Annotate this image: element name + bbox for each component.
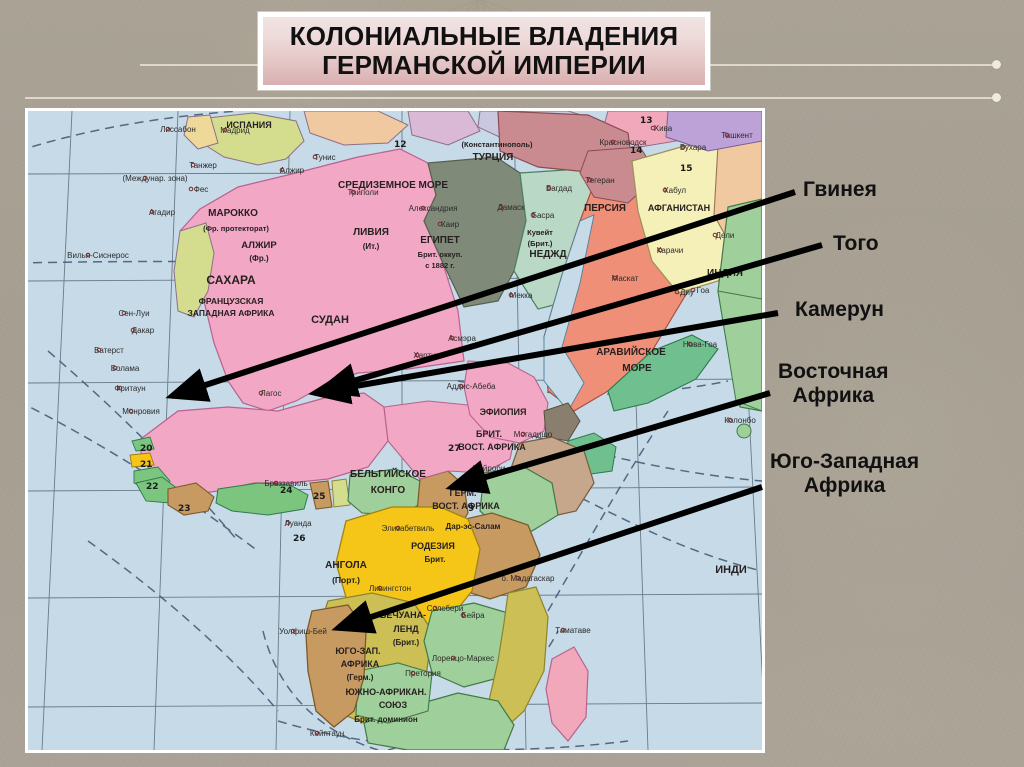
map-city-label: Элизабетвиль	[382, 524, 435, 533]
map-city-label: Танжер	[189, 161, 217, 170]
callout-label-southwest-africa: Юго-Западная Африка	[770, 450, 919, 498]
map-region-label: КОНГО	[371, 485, 406, 496]
map-city-label: Дамаск	[497, 203, 525, 212]
map-region-label: ИНДИЯ	[707, 268, 743, 279]
map-region-label: Брит. доминион	[354, 715, 418, 724]
map-region-label: БРИТ.	[476, 429, 502, 439]
map-city-label: Тунис	[314, 153, 335, 162]
map-city-label: Маскат	[612, 274, 639, 283]
page-title: КОЛОНИАЛЬНЫЕ ВЛАДЕНИЯ ГЕРМАНСКОЙ ИМПЕРИИ	[290, 22, 679, 80]
decor-dot-bottom	[992, 93, 1001, 102]
map-city-label: Аддис-Абеба	[447, 382, 496, 391]
map-region-label: ЮГО-ЗАП.	[335, 646, 380, 656]
map-region-label: (Порт.)	[332, 575, 360, 585]
map-region-label: МОРЕ	[622, 363, 652, 374]
map-city-label: Багдад	[546, 184, 572, 193]
map-city-label: Александрия	[409, 204, 458, 213]
map-region-label: Брит.	[425, 555, 446, 564]
map-canvas: 20 21 22 23 24 25 26 27 9 14 15 12 13 ИС…	[28, 111, 762, 750]
map-region-label: ПЕРСИЯ	[584, 203, 626, 214]
map-region-label: ЕГИПЕТ	[420, 235, 460, 246]
map-region-label: Дар-эс-Салам	[446, 522, 501, 531]
map-city-label: Батерст	[94, 346, 124, 355]
map-region-label: БЕЛЬГИЙСКОЕ	[350, 467, 426, 480]
map-region-label: МАРОККО	[208, 208, 258, 219]
map-city-label: Фес	[194, 185, 209, 194]
svg-text:15: 15	[680, 164, 693, 174]
map-city-label: Лагос	[261, 389, 282, 398]
map-city-label: Монровия	[122, 407, 160, 416]
map-city-label: Ливингстон	[369, 584, 411, 593]
map-city-label: Солсбери	[427, 604, 464, 613]
svg-text:22: 22	[146, 482, 159, 492]
map-city-label: Лоренцо-Маркес	[432, 654, 494, 663]
map-city-label: Луанда	[284, 519, 312, 528]
map-region-label: НЕДЖД	[529, 249, 566, 260]
map-region-label: ЛИВИЯ	[353, 227, 389, 238]
map-city-label: Триполи	[347, 188, 378, 197]
svg-text:26: 26	[293, 534, 306, 544]
map-city-label: Таматаве	[555, 626, 591, 635]
map-region-label: Брит. оккуп.	[418, 250, 463, 259]
map-region-label: с 1882 г.	[425, 261, 454, 270]
map-region-label: (Ит.)	[363, 242, 380, 251]
map-city-label: Претория	[405, 669, 441, 678]
map-region-label: ЭФИОПИЯ	[480, 407, 527, 417]
map-city-label: Диу	[680, 288, 694, 297]
map-city-label: Фритаун	[114, 384, 145, 393]
map-city-label: Бухара	[680, 143, 707, 152]
map-city-label: Каир	[441, 220, 460, 229]
decor-dot-top	[992, 60, 1001, 69]
map-region-label: (Брит.)	[528, 239, 553, 248]
svg-text:20: 20	[140, 444, 153, 454]
map-city-label: Мадрид	[220, 126, 250, 135]
map-city-label: Могадишо	[514, 430, 553, 439]
map-city-label: Вилья-Сиснерос	[67, 251, 129, 260]
map-region-label: ГЕРМ.	[450, 488, 477, 498]
map-city-label: Карачи	[657, 246, 683, 255]
map-city-label: Сен-Луи	[118, 309, 149, 318]
map-region-label: РОДЕЗИЯ	[411, 541, 455, 551]
map-region-label: ВОСТ. АФРИКА	[458, 442, 526, 452]
map-city-label: Агадир	[149, 208, 176, 217]
map-city-label: о. Мадагаскар	[502, 574, 556, 583]
map-region-label: СУДАН	[311, 314, 349, 326]
map-region-label: АФГАНИСТАН	[648, 203, 710, 213]
svg-text:13: 13	[640, 116, 653, 126]
map-city-label: Лиссабон	[160, 125, 196, 134]
svg-text:23: 23	[178, 504, 191, 514]
map-city-label: Гоа	[697, 286, 710, 295]
map-city-label: Красноводск	[599, 138, 647, 147]
title-box: КОЛОНИАЛЬНЫЕ ВЛАДЕНИЯ ГЕРМАНСКОЙ ИМПЕРИИ	[258, 12, 710, 90]
map-region-label: АЛЖИР	[241, 240, 277, 251]
decor-line-bottom	[25, 97, 1000, 99]
map-city-label: Болама	[111, 364, 140, 373]
map-region-label: ВОСТ. АФРИКА	[432, 501, 500, 511]
map-city-label: Уолфиш-Бей	[279, 627, 327, 636]
callout-label-guinea: Гвинея	[803, 178, 877, 202]
callout-label-togo: Того	[833, 232, 879, 256]
map-region-label: ЗАПАДНАЯ АФРИКА	[187, 308, 274, 318]
map-region-label: ИНДИ	[715, 564, 747, 576]
map-region-label: АРАВИЙСКОЕ	[596, 345, 666, 358]
map-region-label: АФРИКА	[341, 659, 380, 669]
svg-text:14: 14	[630, 146, 643, 156]
map-region-label: ФРАНЦУЗСКАЯ	[199, 296, 264, 306]
historical-map: 20 21 22 23 24 25 26 27 9 14 15 12 13 ИС…	[25, 108, 765, 753]
map-region-label: (Фр.)	[249, 254, 269, 263]
map-region-label: СОЮЗ	[379, 700, 408, 710]
map-city-label: Ташкент	[721, 131, 753, 140]
map-region-label: Кувейт	[527, 228, 553, 237]
map-region-label: САХАРА	[206, 273, 256, 287]
map-city-label: Асмэра	[448, 334, 476, 343]
svg-text:12: 12	[394, 140, 407, 150]
map-city-label: Браззавиль	[264, 479, 307, 488]
callout-label-east-africa: Восточная Африка	[778, 360, 889, 408]
map-region-label: ЮЖНО-АФРИКАН.	[345, 687, 426, 697]
map-city-label: (Междунар. зона)	[122, 174, 187, 183]
map-city-label: Хартум	[413, 351, 440, 360]
map-city-label: Кабул	[664, 186, 686, 195]
map-region-label: ЛЕНД	[393, 624, 419, 634]
map-region-label: (Фр. протекторат)	[203, 224, 269, 233]
map-region-label: ТУРЦИЯ	[473, 152, 514, 163]
map-region-label: (Герм.)	[347, 673, 374, 682]
map-region-label: АНГОЛА	[325, 560, 367, 571]
map-region-label: (Константинополь)	[462, 140, 533, 149]
map-city-label: Хива	[654, 124, 673, 133]
map-region-label: БЕЧУАНА-	[380, 610, 426, 620]
callout-label-cameroon: Камерун	[795, 298, 884, 322]
svg-text:25: 25	[313, 492, 326, 502]
svg-text:21: 21	[140, 460, 153, 470]
map-city-label: Дели	[716, 231, 735, 240]
map-city-label: Колонбо	[724, 416, 756, 425]
map-region-label: (Брит.)	[393, 638, 420, 647]
map-city-label: Тегеран	[585, 176, 614, 185]
